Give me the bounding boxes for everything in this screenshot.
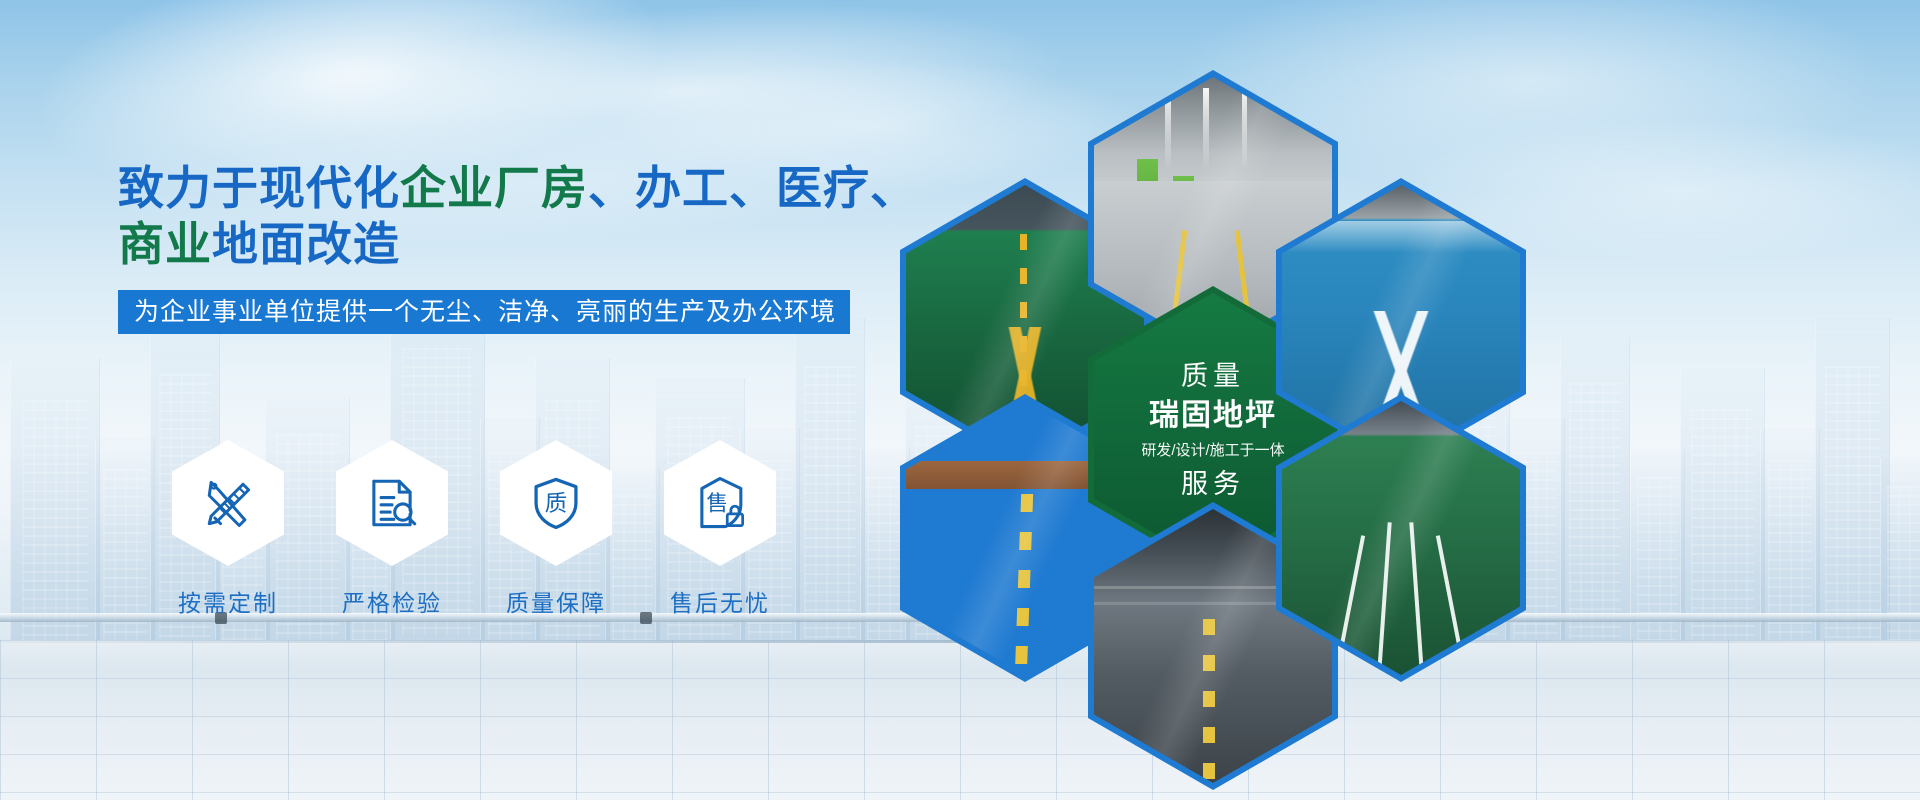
skyline-building xyxy=(1815,318,1890,658)
headline-line-1: 致力于现代化企业厂房、办工、医疗、 xyxy=(118,160,938,216)
svg-text:售: 售 xyxy=(706,490,728,515)
feature-label: 售后无忧 xyxy=(670,584,770,618)
subtitle-banner: 为企业事业单位提供一个无尘、洁净、亮丽的生产及办公环境 xyxy=(118,290,850,334)
headline-line-2: 商业地面改造 xyxy=(118,216,938,272)
feature-item-custom[interactable]: 按需定制 xyxy=(170,440,286,618)
skyline-building xyxy=(1560,338,1630,658)
headline-seg: 企业厂房 xyxy=(400,162,588,214)
headline-seg: 商业 xyxy=(118,218,212,270)
photo-green-floor-white-lines xyxy=(1282,401,1520,675)
document-search-icon xyxy=(363,474,421,532)
skyline-building xyxy=(1630,448,1685,658)
hero-copy: 致力于现代化企业厂房、办工、医疗、 商业地面改造 为企业事业单位提供一个无尘、洁… xyxy=(118,160,938,334)
svg-text:质: 质 xyxy=(545,490,568,516)
headline-seg: 地面改造 xyxy=(212,218,400,270)
headline-seg: 、办工、医疗、 xyxy=(588,162,917,214)
honeycomb-gallery: 质量 瑞固地坪 研发/设计/施工于一体 服务 xyxy=(900,40,1540,760)
headline-seg: 致力于现代化 xyxy=(118,162,400,214)
feature-hexagon xyxy=(336,440,448,566)
skyline-building xyxy=(95,438,155,658)
ruler-pencil-icon xyxy=(198,473,258,533)
skyline-building xyxy=(1760,428,1820,658)
skyline-building xyxy=(1880,458,1920,658)
feature-item-inspection[interactable]: 严格检验 xyxy=(334,440,450,618)
feature-label: 严格检验 xyxy=(342,584,442,618)
feature-list: 按需定制 严格检验 xyxy=(170,440,778,618)
brand-tagline: 研发/设计/施工于一体 xyxy=(1141,439,1284,463)
hero-banner: 致力于现代化企业厂房、办工、医疗、 商业地面改造 为企业事业单位提供一个无尘、洁… xyxy=(0,0,1920,800)
feature-label: 按需定制 xyxy=(178,584,278,618)
feature-hexagon: 售 xyxy=(664,440,776,566)
page-title: 致力于现代化企业厂房、办工、医疗、 商业地面改造 xyxy=(118,160,938,272)
feature-hexagon xyxy=(172,440,284,566)
skyline-building xyxy=(795,318,865,658)
shield-quality-icon: 质 xyxy=(527,474,585,532)
brand-bottom-text: 服务 xyxy=(1181,467,1245,501)
feature-item-quality[interactable]: 质 质量保障 xyxy=(498,440,614,618)
feature-item-after-sales[interactable]: 售 售后无忧 xyxy=(662,440,778,618)
feature-label: 质量保障 xyxy=(506,584,606,618)
brand-name: 瑞固地坪 xyxy=(1149,395,1277,437)
after-sales-lock-icon: 售 xyxy=(691,474,749,532)
feature-hexagon: 质 xyxy=(500,440,612,566)
brand-top-text: 质量 xyxy=(1181,359,1245,393)
